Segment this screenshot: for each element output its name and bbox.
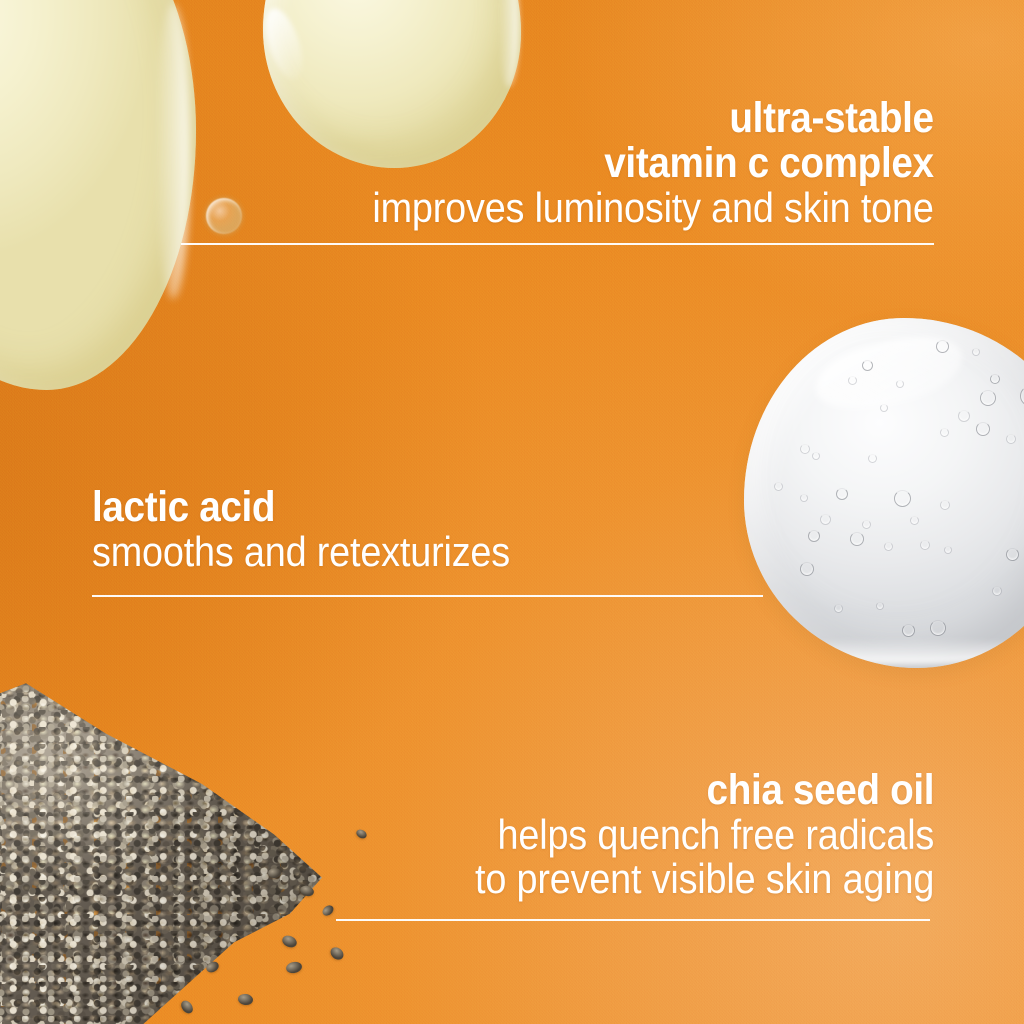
divider-rule-lactic-acid: [92, 595, 763, 597]
gel-bubble: [972, 348, 980, 356]
chia-seed-oil-headline-line1: chia seed oil: [475, 768, 934, 813]
gel-bubble: [980, 390, 996, 406]
gel-bubble: [936, 340, 949, 353]
gel-bottom-rim: [778, 638, 1024, 664]
oil-droplet-bubble-icon: [206, 198, 242, 234]
gel-bubble: [1006, 548, 1019, 561]
gel-bubble: [990, 374, 1000, 384]
divider-rule-vitamin-c: [181, 243, 934, 245]
gel-bubble: [940, 500, 950, 510]
gel-bubble: [958, 410, 970, 422]
gel-bubble: [920, 540, 930, 550]
gel-bubble: [868, 454, 877, 463]
gel-bubble: [1020, 386, 1024, 406]
gel-bubble: [1006, 434, 1016, 444]
vitamin-c-subline-line1: improves luminosity and skin tone: [373, 186, 934, 230]
ingredient-benefits-graphic: ultra-stable vitamin c complex improves …: [0, 0, 1024, 1024]
chia-seed-oil-subline-line2: to prevent visible skin aging: [475, 857, 934, 901]
ingredient-block-chia-seed-oil: chia seed oil helps quench free radicals…: [424, 768, 934, 901]
gel-bubble: [902, 624, 915, 637]
gel-bubble: [944, 546, 952, 554]
gel-bubble: [834, 604, 843, 613]
lactic-acid-headline-line1: lactic acid: [92, 485, 510, 530]
gel-bubble: [976, 422, 990, 436]
gel-bubble: [880, 404, 888, 412]
gel-bubble: [940, 428, 949, 437]
gel-bubble: [812, 452, 820, 460]
gel-bubble: [876, 602, 884, 610]
gel-bubble: [800, 562, 814, 576]
gel-bubble: [820, 514, 831, 525]
lactic-acid-subline-line1: smooths and retexturizes: [92, 530, 510, 574]
ingredient-block-vitamin-c: ultra-stable vitamin c complex improves …: [310, 96, 934, 230]
gel-bubble: [884, 542, 893, 551]
ingredient-block-lactic-acid: lactic acid smooths and retexturizes: [92, 485, 556, 574]
divider-rule-chia-seed-oil: [336, 919, 930, 921]
gel-bubble: [848, 376, 857, 385]
gel-bubble: [808, 530, 820, 542]
gel-bubble: [862, 360, 873, 371]
gel-bubble: [910, 516, 919, 525]
gel-bubble: [894, 490, 911, 507]
gel-bubble: [850, 532, 864, 546]
vitamin-c-headline-line2: vitamin c complex: [373, 141, 934, 186]
gel-bubble: [862, 520, 871, 529]
gel-bubble: [800, 444, 810, 454]
gel-bubble: [930, 620, 946, 636]
gel-specular-highlight: [809, 325, 970, 421]
gel-bubble: [774, 482, 783, 491]
gel-bubble: [896, 380, 904, 388]
vitamin-c-headline-line1: ultra-stable: [373, 96, 934, 141]
chia-seed-oil-subline-line1: helps quench free radicals: [475, 813, 934, 857]
gel-bubble: [836, 488, 848, 500]
gel-bubble: [992, 586, 1002, 596]
gel-bubble: [1012, 334, 1021, 343]
gel-bubble: [800, 494, 808, 502]
